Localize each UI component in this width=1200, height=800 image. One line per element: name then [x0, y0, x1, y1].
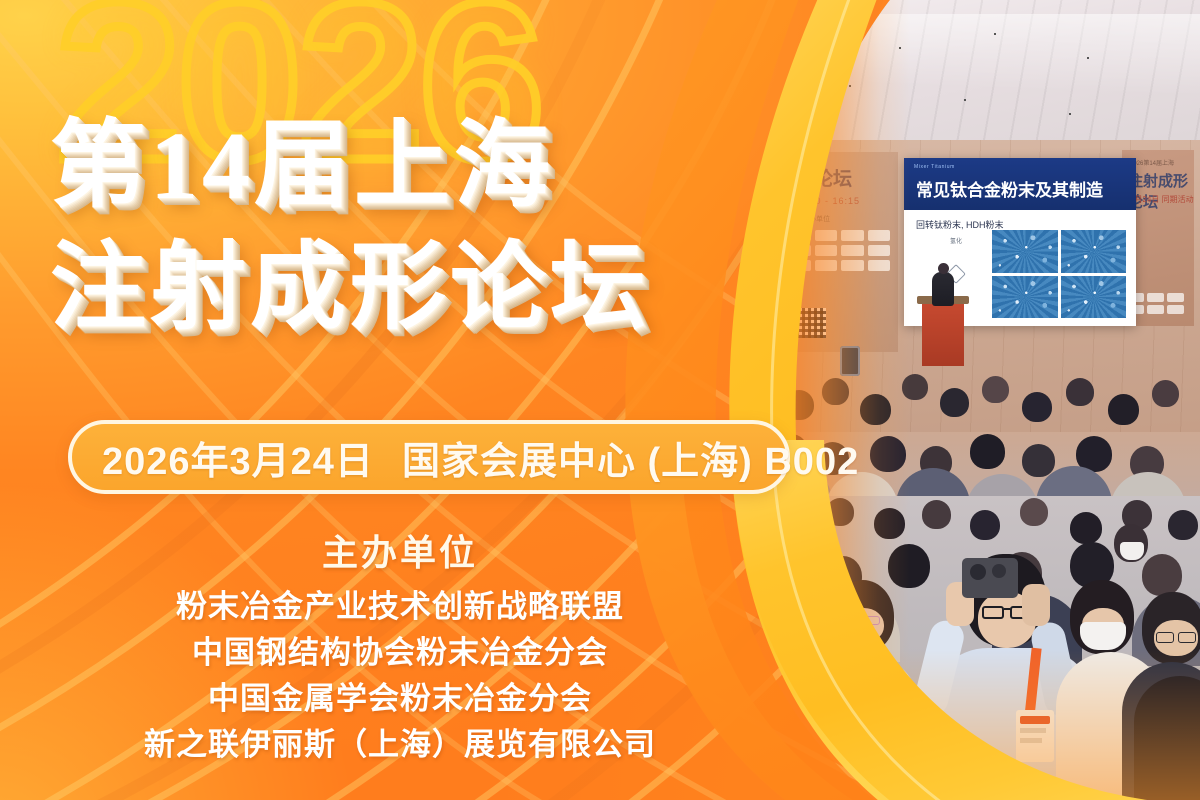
conference-photo: 论坛 13:30 - 16:15 主办单位 2026第14届上海 注射成形论坛 …	[770, 0, 1200, 800]
event-info-pill: 2026年3月24日 国家会展中心 (上海) B002	[68, 420, 790, 494]
headline-line-1: 第14届上海	[50, 118, 650, 214]
event-date: 2026年3月24日	[102, 430, 374, 485]
organizers-list: 粉末冶金产业技术创新战略联盟 中国钢结构协会粉末冶金分会 中国金属学会粉末冶金分…	[0, 584, 800, 768]
organizer-item: 中国金属学会粉末冶金分会	[0, 676, 800, 722]
organizers-block: 主办单位 粉末冶金产业技术创新战略联盟 中国钢结构协会粉末冶金分会 中国金属学会…	[0, 524, 800, 768]
poster-headline: 第14届上海 注射成形论坛	[50, 118, 650, 336]
organizer-item: 中国钢结构协会粉末冶金分会	[0, 630, 800, 676]
slide-brand: Mixer Titanium	[914, 164, 955, 170]
event-venue: 国家会展中心 (上海) B002	[402, 430, 859, 485]
organizer-item: 新之联伊丽斯（上海）展览有限公司	[0, 722, 800, 768]
right-banner-top: 2026第14届上海	[1130, 158, 1174, 167]
photo-speaker	[932, 272, 954, 306]
organizers-heading: 主办单位	[0, 524, 800, 576]
slide-title: 常见钛合金粉末及其制造	[916, 176, 1103, 201]
right-banner-sub: 3月24日 同期活动	[1130, 194, 1194, 205]
slide-subtitle: 回转钛粉末, HDH粉末	[916, 218, 1004, 231]
organizer-item: 粉末冶金产业技术创新战略联盟	[0, 584, 800, 630]
headline-line-2: 注射成形论坛	[50, 240, 650, 336]
diagram-label-1: 氢化	[950, 236, 962, 245]
event-poster: 2026 论坛 13:30 - 16:15 主办单位 2026第14届上海	[0, 0, 1200, 800]
right-banner-chips	[1127, 293, 1189, 314]
slide-micrograph-grid	[992, 230, 1126, 318]
right-banner-title: 注射成形论坛	[1128, 170, 1194, 212]
